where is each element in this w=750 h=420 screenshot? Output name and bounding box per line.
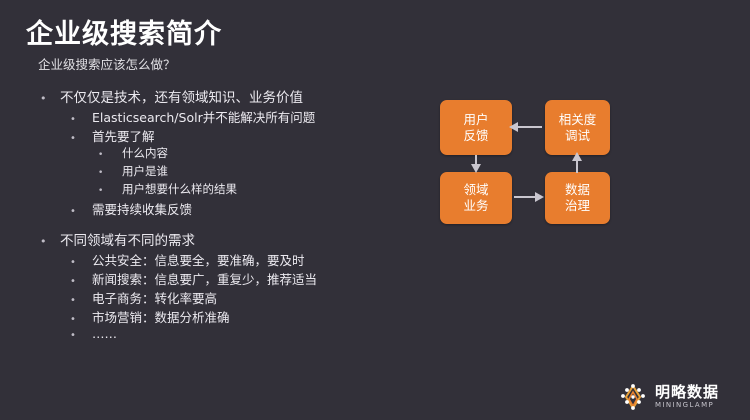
bullet-item: • 市场营销：数据分析准确 xyxy=(0,307,420,326)
bullet-marker: • xyxy=(98,186,122,196)
bullet-text: 电子商务：转化率要高 xyxy=(92,288,217,307)
diagram-node-relevance-tuning: 相关度 调试 xyxy=(545,100,610,155)
bullet-text: 用户是谁 xyxy=(122,163,168,179)
arrow-left-icon xyxy=(518,126,542,128)
bullet-marker: • xyxy=(70,114,92,125)
node-label-line1: 相关度 xyxy=(559,112,597,128)
diagram-node-user-feedback: 用户 反馈 xyxy=(440,100,512,155)
bullet-item: • 不同领域有不同的需求 xyxy=(0,229,420,250)
bullet-item: • Elasticsearch/Solr并不能解决所有问题 xyxy=(0,107,420,126)
bullet-list: • 不仅仅是技术，还有领域知识、业务价值 • Elasticsearch/Sol… xyxy=(0,86,420,345)
bullet-text: 市场营销：数据分析准确 xyxy=(92,307,230,326)
bullet-item: • 用户想要什么样的结果 xyxy=(0,181,420,199)
bullet-item: • 需要持续收集反馈 xyxy=(0,199,420,218)
arrow-right-icon xyxy=(535,192,544,202)
bullet-text: 公共安全：信息要全，要准确，要及时 xyxy=(92,250,305,269)
arrow-up-icon xyxy=(572,152,582,161)
bullet-marker: • xyxy=(40,235,60,248)
bullet-text: 需要持续收集反馈 xyxy=(92,199,192,218)
bullet-marker: • xyxy=(70,276,92,287)
arrow-down-icon xyxy=(471,164,481,173)
node-label-line2: 反馈 xyxy=(463,128,488,144)
logo-name-en: MININGLAMP xyxy=(655,402,719,409)
page-subtitle: 企业级搜索应该怎么做？ xyxy=(38,54,176,73)
node-label-line1: 用户 xyxy=(463,112,488,128)
bullet-item: • 首先要了解 xyxy=(0,126,420,145)
arrow-right-icon xyxy=(514,196,536,198)
logo-text-group: 明略数据 MININGLAMP xyxy=(655,385,719,409)
bullet-item: • 电子商务：转化率要高 xyxy=(0,288,420,307)
bullet-marker: • xyxy=(70,330,92,341)
bullet-text: 用户想要什么样的结果 xyxy=(122,181,237,197)
bullet-text: 新闻搜索：信息要广，重复少，推荐适当 xyxy=(92,269,317,288)
bullet-item: • 新闻搜索：信息要广，重复少，推荐适当 xyxy=(0,269,420,288)
node-label-line2: 治理 xyxy=(565,198,590,214)
bullet-marker: • xyxy=(70,295,92,306)
bullet-marker: • xyxy=(40,92,60,105)
search-loop-diagram: 用户 反馈 相关度 调试 领域 业务 数据 治理 xyxy=(430,92,625,228)
diagram-node-data-governance: 数据 治理 xyxy=(545,172,610,224)
mininglamp-mark-icon xyxy=(618,382,648,412)
bullet-text: 什么内容 xyxy=(122,145,168,161)
bullet-item: • 公共安全：信息要全，要准确，要及时 xyxy=(0,250,420,269)
bullet-marker: • xyxy=(70,257,92,268)
bullet-text: Elasticsearch/Solr并不能解决所有问题 xyxy=(92,107,315,126)
arrow-left-icon xyxy=(509,122,518,132)
bullet-text: …… xyxy=(92,326,117,341)
page-title: 企业级搜索简介 xyxy=(26,12,222,51)
bullet-text: 首先要了解 xyxy=(92,126,155,145)
bullet-marker: • xyxy=(70,314,92,325)
bullet-marker: • xyxy=(98,150,122,160)
bullet-item: • 什么内容 xyxy=(0,145,420,163)
bullet-text: 不同领域有不同的需求 xyxy=(60,229,195,249)
node-label-line1: 数据 xyxy=(565,182,590,198)
bullet-item: • 用户是谁 xyxy=(0,163,420,181)
bullet-marker: • xyxy=(70,133,92,144)
bullet-text: 不仅仅是技术，还有领域知识、业务价值 xyxy=(60,86,303,106)
bullet-marker: • xyxy=(98,168,122,178)
bullet-item: • 不仅仅是技术，还有领域知识、业务价值 xyxy=(0,86,420,107)
bullet-group-spacer xyxy=(0,218,420,229)
node-label-line2: 业务 xyxy=(463,198,488,214)
logo-name-cn: 明略数据 xyxy=(655,385,719,400)
bullet-marker: • xyxy=(70,206,92,217)
node-label-line1: 领域 xyxy=(463,182,488,198)
node-label-line2: 调试 xyxy=(565,128,590,144)
company-logo: 明略数据 MININGLAMP xyxy=(618,381,740,413)
arrow-up-icon xyxy=(576,160,578,173)
slide-canvas: 企业级搜索简介 企业级搜索应该怎么做？ • 不仅仅是技术，还有领域知识、业务价值… xyxy=(0,0,750,420)
diagram-node-domain-business: 领域 业务 xyxy=(440,172,512,224)
bullet-item: • …… xyxy=(0,326,420,345)
